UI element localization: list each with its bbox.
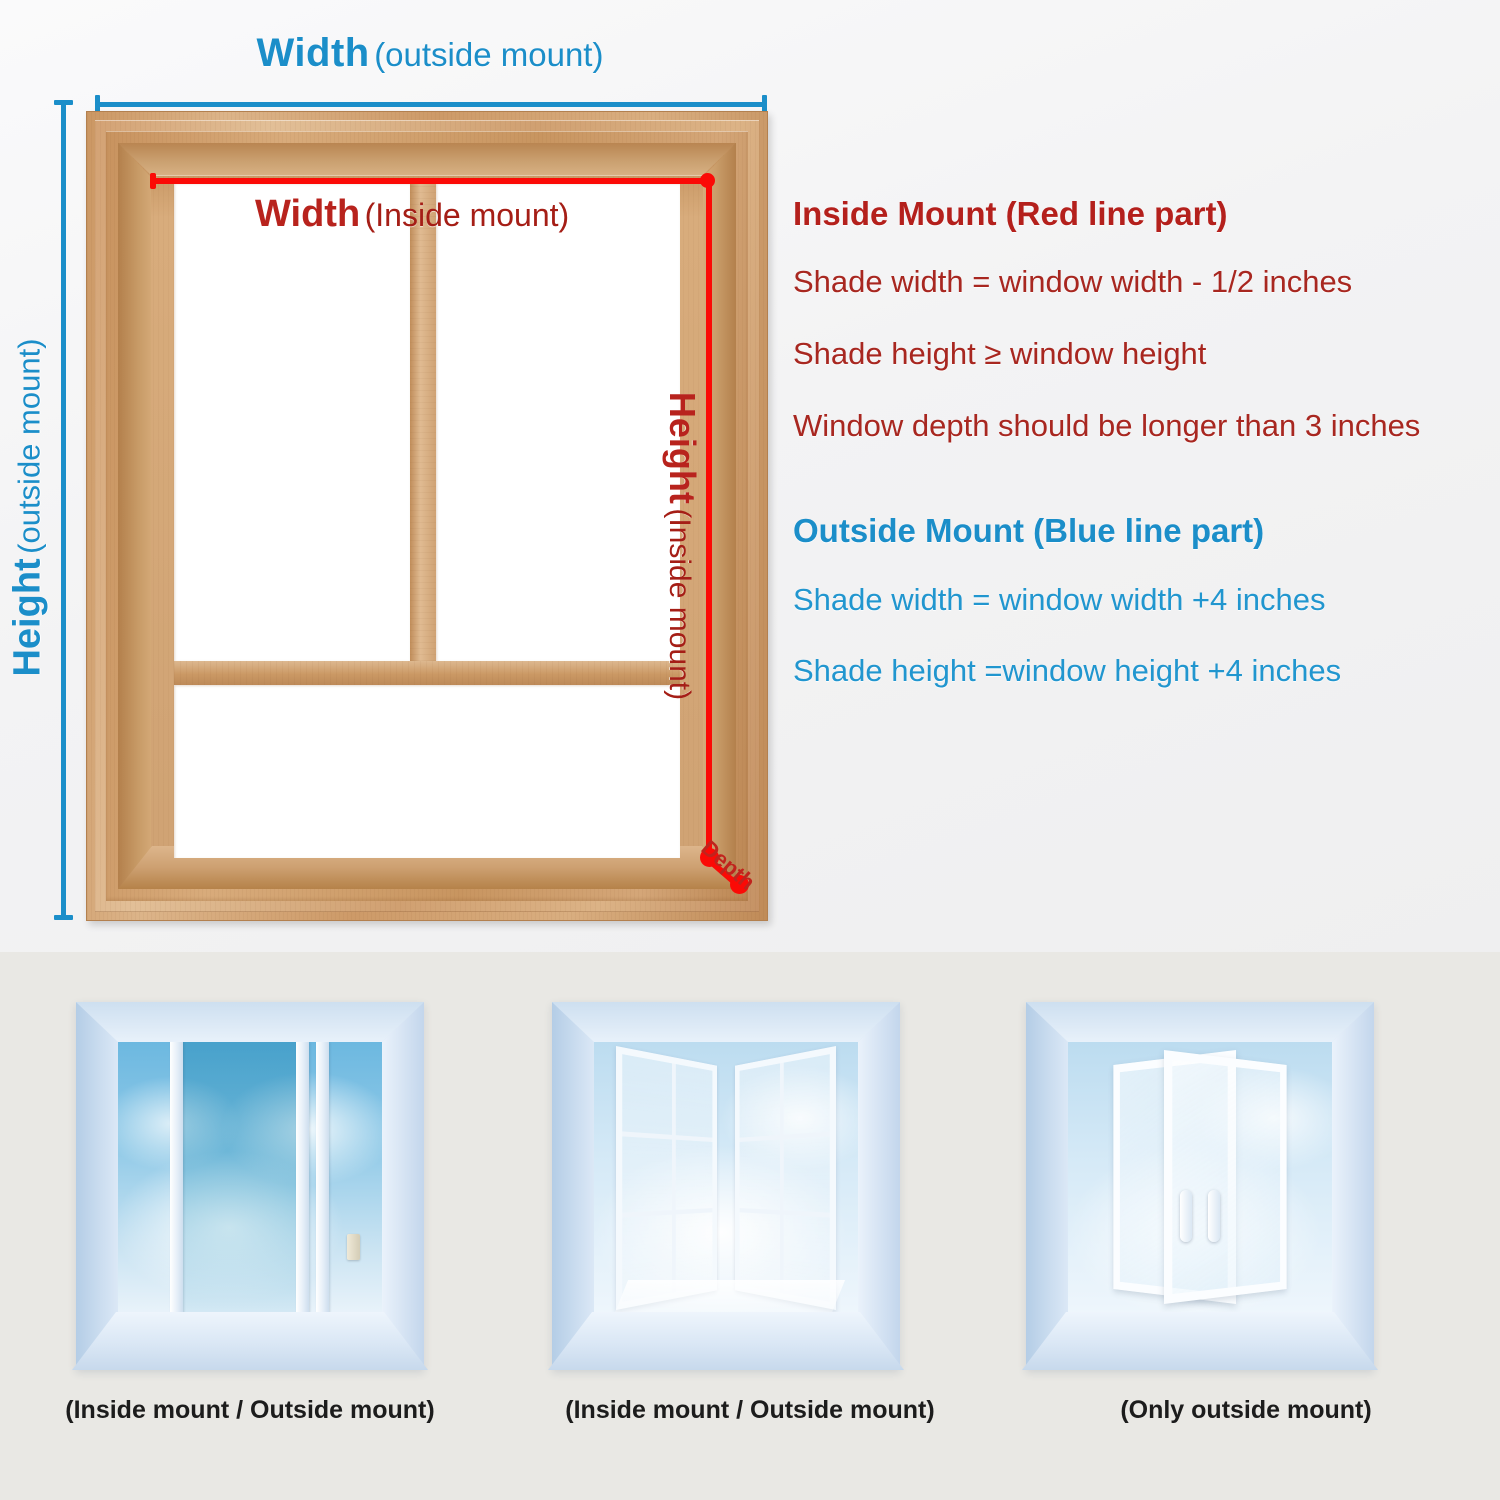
example-caption: (Only outside mount) [1036, 1396, 1456, 1425]
height-inside-label-sub: (Inside mount) [663, 508, 696, 700]
example-window-inward-casement [552, 1002, 900, 1370]
window-transom [174, 661, 680, 685]
reveal-left-jamb [552, 1002, 594, 1370]
outside-mount-rule: Shade height =window height +4 inches [793, 653, 1493, 689]
measuring-guide-infographic: Width (outside mount) Height (outside mo… [0, 0, 1500, 1500]
outside-mount-heading: Outside Mount (Blue line part) [793, 513, 1493, 549]
window-opening [118, 1042, 382, 1314]
width-inside-mount-label: Width (Inside mount) [255, 193, 569, 236]
window-opening [594, 1042, 858, 1314]
instructions-text-block: Inside Mount (Red line part) Shade width… [793, 196, 1493, 725]
height-inside-mount-label: Height (Inside mount) [661, 316, 703, 776]
reveal-left-jamb [1026, 1002, 1068, 1370]
height-outside-mount-label: Height (outside mount) [7, 128, 50, 888]
window-opening [1068, 1042, 1332, 1314]
window-sill [72, 1312, 428, 1370]
sliding-sash-stile-mid [296, 1042, 309, 1314]
height-outside-label-sub: (outside mount) [12, 338, 47, 553]
casement-sash-right [1164, 1050, 1287, 1304]
example-caption: (Inside mount / Outside mount) [40, 1396, 460, 1425]
window-sill [1022, 1312, 1378, 1370]
dimension-bar [95, 102, 767, 107]
reveal-right-jamb [382, 1002, 424, 1370]
reveal-head [552, 1002, 900, 1042]
width-outside-label-sub: (outside mount) [374, 36, 603, 73]
width-outside-mount-label: Width (outside mount) [95, 31, 765, 76]
casement-handle-right [1208, 1190, 1220, 1242]
window-sash [174, 183, 680, 858]
dimension-bar [61, 100, 66, 920]
diagram-panel: Width (outside mount) Height (outside mo… [0, 0, 1500, 952]
example-window-outward-casement [1026, 1002, 1374, 1370]
muntin-vertical [780, 1063, 784, 1294]
window-mullion [410, 183, 436, 685]
window-pane-bottom [174, 685, 680, 858]
width-inside-label-sub: (Inside mount) [365, 197, 570, 233]
jamb-head-face [118, 143, 736, 176]
example-caption: (Inside mount / Outside mount) [540, 1396, 960, 1425]
reveal-left-jamb [76, 1002, 118, 1370]
width-outside-label-main: Width [257, 31, 370, 75]
jamb-left-face [118, 143, 151, 889]
muntin-horizontal [622, 1131, 712, 1142]
height-outside-label-main: Height [7, 558, 49, 676]
sliding-sash-stile-left [170, 1042, 183, 1314]
reveal-head [76, 1002, 424, 1042]
sunlight-patch [612, 1280, 845, 1314]
window-sill [548, 1312, 904, 1370]
muntin-vertical [672, 1063, 676, 1292]
height-inside-label-main: Height [662, 392, 703, 504]
sliding-sash-stile-mid2 [316, 1042, 329, 1314]
sliding-sash-glass [180, 1042, 304, 1314]
reveal-right-jamb [1332, 1002, 1374, 1370]
inside-mount-rule: Window depth should be longer than 3 inc… [793, 408, 1493, 444]
dimension-end-cap-bottom [54, 915, 73, 920]
window-latch-handle [347, 1234, 360, 1260]
window-photo [76, 1002, 424, 1370]
height-outside-dimension-line [54, 100, 73, 920]
outside-mount-rule: Shade width = window width +4 inches [793, 582, 1493, 618]
inside-mount-rule: Shade height ≥ window height [793, 336, 1493, 372]
outside-mount-instructions: Outside Mount (Blue line part) Shade wid… [793, 513, 1493, 689]
reveal-right-jamb [858, 1002, 900, 1370]
casement-sash-left [616, 1046, 717, 1310]
inside-mount-rule: Shade width = window width - 1/2 inches [793, 264, 1493, 300]
window-pane-top-left [174, 183, 410, 661]
muntin-horizontal [740, 1131, 830, 1142]
dimension-bar [150, 178, 712, 184]
reveal-head [1026, 1002, 1374, 1042]
window-photo [1026, 1002, 1374, 1370]
inside-mount-heading: Inside Mount (Red line part) [793, 196, 1493, 232]
muntin-horizontal [740, 1208, 830, 1218]
width-inside-dimension-line [150, 173, 712, 189]
example-window-sliding [76, 1002, 424, 1370]
casement-sash-right [735, 1046, 836, 1310]
inside-mount-instructions: Inside Mount (Red line part) Shade width… [793, 196, 1493, 443]
width-inside-label-main: Width [255, 193, 360, 235]
casement-handle-left [1180, 1190, 1192, 1242]
height-inside-dimension-line [706, 178, 712, 858]
window-photo [552, 1002, 900, 1370]
window-pane-top-right [436, 183, 680, 661]
muntin-horizontal [622, 1208, 712, 1218]
